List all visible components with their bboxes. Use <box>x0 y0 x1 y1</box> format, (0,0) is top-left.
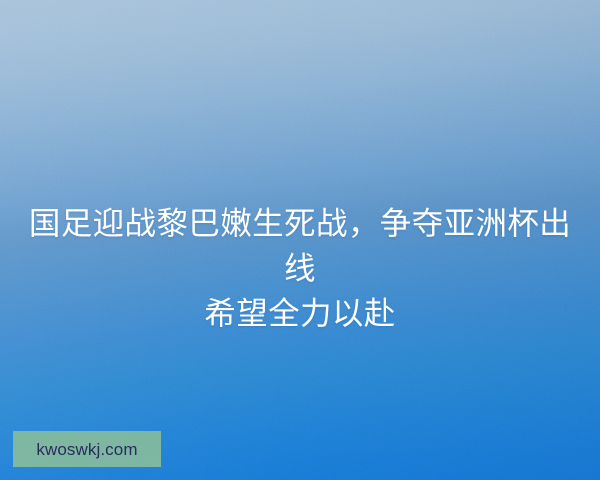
image-canvas: 国足迎战黎巴嫩生死战，争夺亚洲杯出线 希望全力以赴 kwoswkj.com <box>0 0 600 480</box>
watermark-label: kwoswkj.com <box>36 441 137 458</box>
watermark-badge: kwoswkj.com <box>13 431 161 467</box>
headline-text: 国足迎战黎巴嫩生死战，争夺亚洲杯出线 希望全力以赴 <box>0 201 600 336</box>
